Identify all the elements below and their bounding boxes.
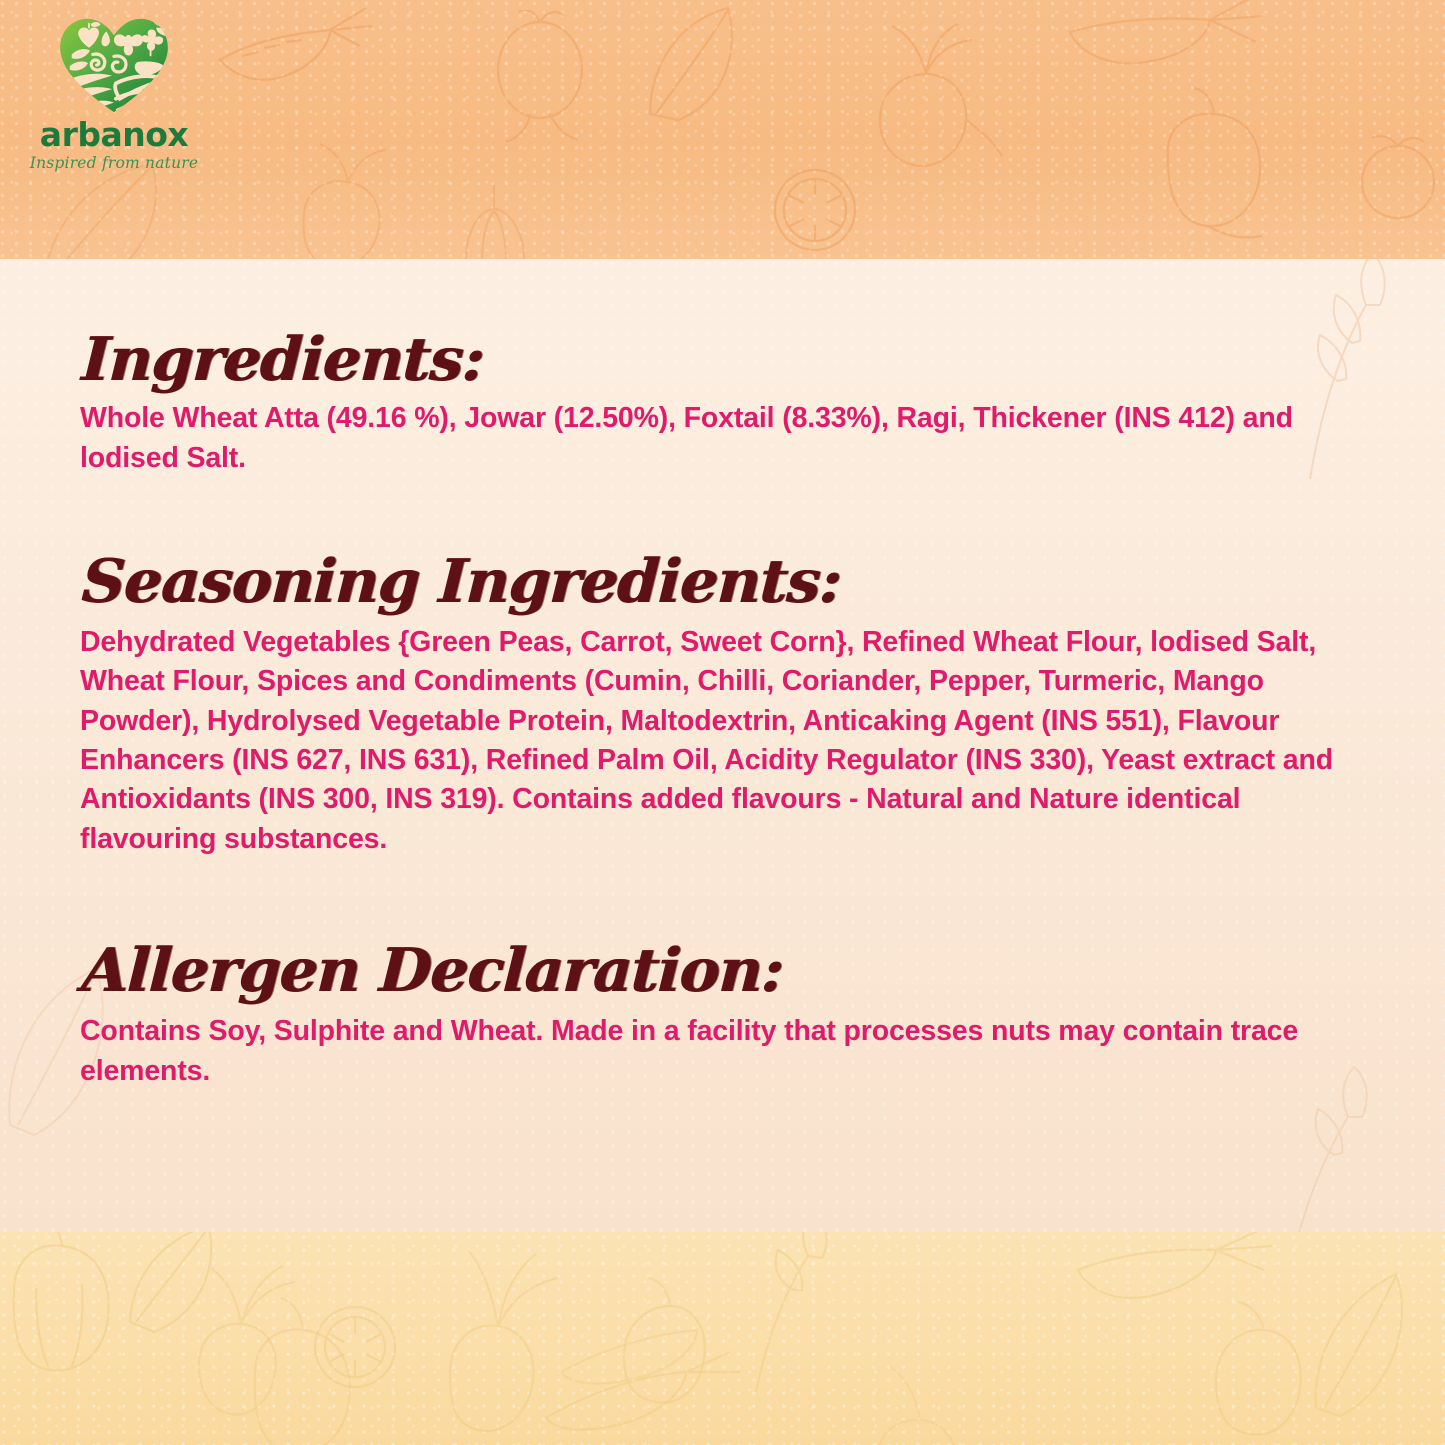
garlic-outline-icon: [430, 165, 560, 259]
label-content: Ingredients: Whole Wheat Atta (49.16 %),…: [80, 330, 1380, 1091]
bell-pepper-outline-icon: [0, 1232, 150, 1392]
mango-outline-icon: [1180, 1292, 1330, 1445]
leaf-outline-icon: [1290, 1252, 1445, 1432]
bell-pepper-outline-icon: [1120, 80, 1310, 259]
seasoning-ingredients-heading: Seasoning Ingredients:: [80, 552, 1383, 613]
allergen-declaration-body: Contains Soy, Sulphite and Wheat. Made i…: [80, 1012, 1380, 1091]
nature-heart-logo-icon: [56, 16, 172, 116]
turnip-outline-icon: [390, 1232, 600, 1445]
beetroot-outline-icon: [165, 1242, 335, 1442]
brand-name: arbanox: [24, 118, 204, 151]
carrot-outline-icon: [1050, 0, 1280, 116]
bottom-texture-band: [0, 1232, 1445, 1445]
section-allergen-declaration: Allergen Declaration: Contains Soy, Sulp…: [80, 941, 1380, 1091]
carrot-outline-icon: [180, 0, 380, 110]
beetroot-outline-icon: [830, 20, 1020, 190]
bell-pepper-outline-icon: [215, 1282, 395, 1445]
carrot-outline-icon: [1060, 1232, 1280, 1342]
seasoning-ingredients-body: Dehydrated Vegetables {Green Peas, Carro…: [80, 623, 1380, 859]
wheat-outline-icon: [700, 1232, 880, 1412]
tomato-slice-outline-icon: [300, 1292, 410, 1402]
top-texture-band: [0, 0, 1445, 259]
tomato-slice-outline-icon: [760, 155, 870, 259]
carrot-outline-icon: [545, 1292, 755, 1412]
turnip-outline-icon: [250, 140, 420, 259]
beetroot-outline-icon: [830, 1352, 1010, 1445]
section-ingredients: Ingredients: Whole Wheat Atta (49.16 %),…: [80, 330, 1380, 478]
section-seasoning-ingredients: Seasoning Ingredients: Dehydrated Vegeta…: [80, 552, 1380, 859]
onion-outline-icon: [470, 10, 620, 150]
ingredients-heading: Ingredients:: [80, 330, 1383, 391]
tomato-outline-icon: [1340, 120, 1445, 240]
carrot-outline-icon: [530, 1332, 750, 1445]
allergen-declaration-heading: Allergen Declaration:: [80, 941, 1383, 1002]
leaf-outline-icon: [110, 1232, 250, 1342]
brand-tagline: Inspired from nature: [24, 156, 204, 172]
product-label-poster: arbanox Inspired from nature Ingredients…: [0, 0, 1445, 1445]
leaf-outline-icon: [620, 0, 800, 134]
ingredients-body: Whole Wheat Atta (49.16 %), Jowar (12.50…: [80, 399, 1380, 478]
brand-logo: arbanox Inspired from nature: [24, 16, 204, 168]
mango-outline-icon: [590, 1272, 730, 1422]
